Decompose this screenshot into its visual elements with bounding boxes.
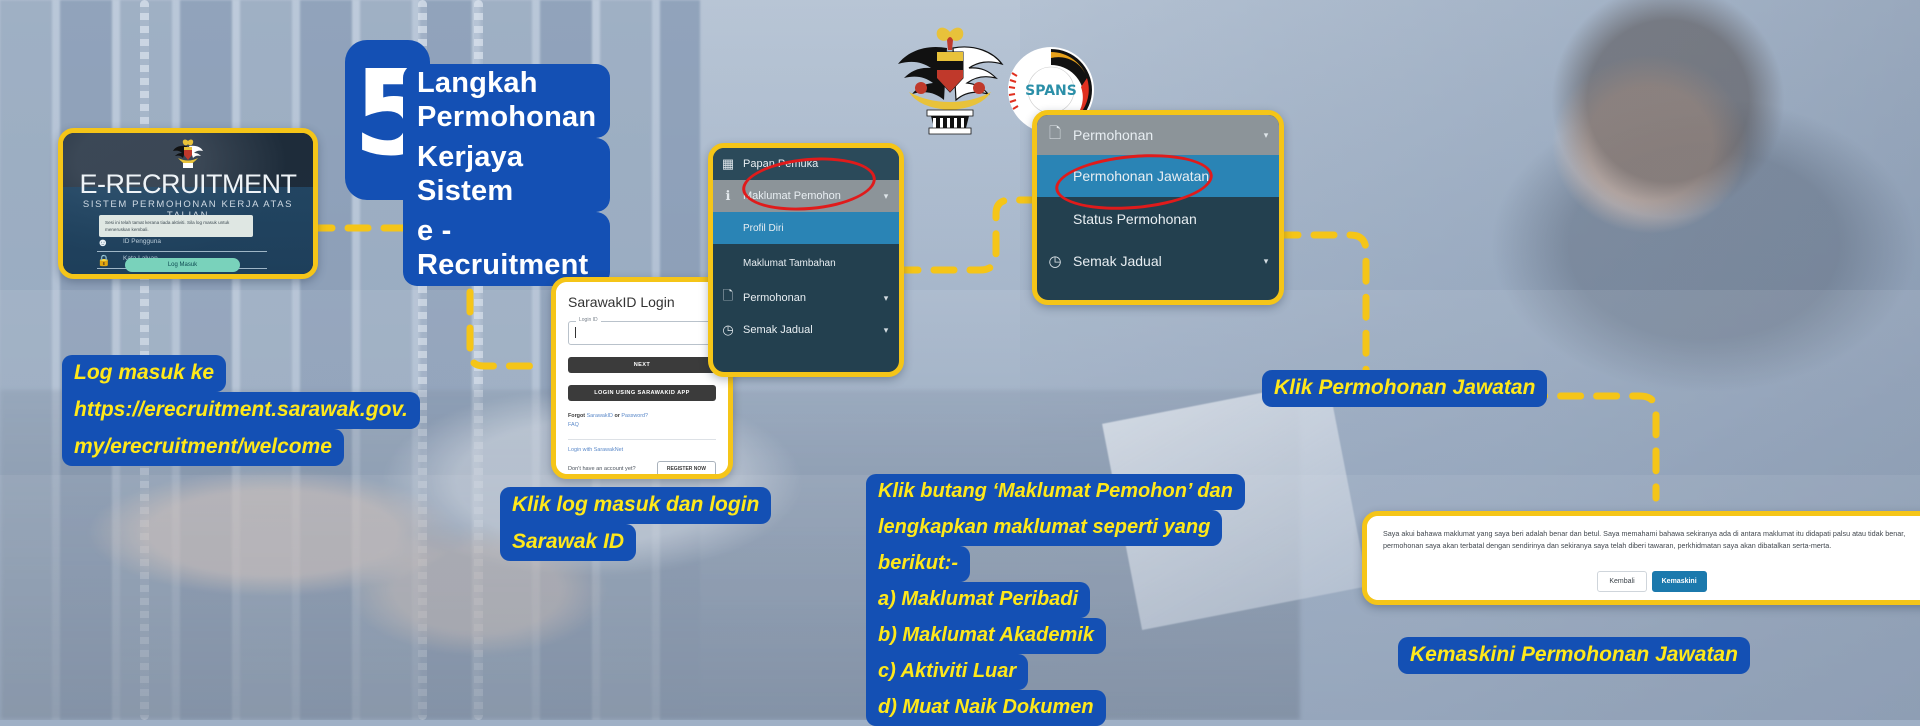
caption-line: my/erecruitment/welcome	[62, 429, 344, 466]
caption-line: c) Aktiviti Luar	[866, 654, 1028, 690]
menu-item-papan-pemuka[interactable]: ▦ Papan Pemuka	[713, 148, 899, 180]
help-links: Forgot SarawakID or Password? FAQ	[568, 412, 716, 430]
caption-line: Log masuk ke	[62, 355, 226, 392]
clock-icon: ◷	[713, 322, 743, 338]
caption-line: berikut:-	[866, 546, 970, 582]
login-button[interactable]: Log Masuk	[125, 258, 240, 272]
forgot-password-link[interactable]: Password?	[621, 413, 648, 419]
kemaskini-button[interactable]: Kemaskini	[1652, 571, 1707, 592]
menu-label: Maklumat Pemohon	[743, 190, 873, 202]
caption-line: Klik Permohonan Jawatan	[1262, 370, 1547, 407]
menu-label: Permohonan	[1073, 127, 1253, 143]
menu-item-semak-jadual[interactable]: ◷ Semak Jadual ▾	[713, 314, 899, 346]
permohonan-menu-screenshot: 🗋 Permohonan ▾ Permohonan Jawatan Status…	[1032, 110, 1284, 305]
text-caret	[575, 327, 576, 338]
menu-item-permohonan-jawatan[interactable]: Permohonan Jawatan	[1037, 155, 1279, 197]
caption-step-4: Klik Permohonan Jawatan	[1262, 370, 1547, 407]
erecruitment-heading: E-RECRUITMENT	[63, 169, 313, 200]
user-id-field[interactable]: ☻ ID Pengguna	[97, 235, 267, 252]
title-line-1: Langkah Permohonan	[403, 64, 610, 138]
erecruitment-login-screenshot: E-RECRUITMENT SISTEM PERMOHONAN KERJA AT…	[58, 128, 318, 279]
dashboard-icon: ▦	[713, 156, 743, 172]
no-account-label: Don't have an account yet?	[568, 466, 636, 472]
title-line-3: e - Recruitment	[403, 212, 610, 286]
lock-icon: 🔒	[97, 254, 111, 267]
declaration-text: Saya akui bahawa maklumat yang saya beri…	[1383, 528, 1920, 552]
menu-label: Maklumat Tambahan	[743, 258, 899, 269]
menu-item-permohonan[interactable]: 🗋 Permohonan ▾	[1037, 115, 1279, 155]
menu-label: Papan Pemuka	[743, 158, 873, 170]
caption-line: Klik butang ‘Maklumat Pemohon’ dan	[866, 474, 1245, 510]
divider	[568, 439, 716, 440]
chevron-down-icon: ▾	[1253, 130, 1279, 141]
next-button[interactable]: NEXT	[568, 357, 716, 373]
svg-text:SPANS: SPANS	[1025, 83, 1077, 99]
or-label: or	[614, 413, 619, 419]
menu-label: Status Permohonan	[1073, 211, 1279, 227]
forgot-sarawakid-link[interactable]: SarawakID	[587, 413, 613, 419]
caption-step-1: Log masuk ke https://erecruitment.sarawa…	[62, 355, 482, 466]
caption-step-3: Klik butang ‘Maklumat Pemohon’ dan lengk…	[866, 474, 1286, 726]
title-line-2: Kerjaya Sistem	[403, 138, 610, 212]
document-icon: 🗋	[1037, 123, 1073, 148]
menu-item-semak-jadual[interactable]: ◷ Semak Jadual ▾	[1037, 241, 1279, 281]
chevron-down-icon: ▾	[873, 191, 899, 202]
caption-line: b) Maklumat Akademik	[866, 618, 1106, 654]
sarawaknet-login-link[interactable]: Login with SarawakNet	[568, 447, 716, 453]
kembali-button[interactable]: Kembali	[1597, 571, 1646, 592]
caption-line: lengkapkan maklumat seperti yang	[866, 510, 1222, 546]
register-now-button[interactable]: REGISTER NOW	[657, 461, 716, 477]
menu-item-permohonan[interactable]: 🗋 Permohonan ▾	[713, 282, 899, 314]
caption-line: Sarawak ID	[500, 524, 636, 561]
declaration-dialog-screenshot: Saya akui bahawa maklumat yang saya beri…	[1362, 511, 1920, 605]
menu-item-profil-diri[interactable]: Profil Diri	[713, 212, 899, 244]
menu-item-maklumat-tambahan[interactable]: Maklumat Tambahan	[713, 244, 899, 282]
clock-icon: ◷	[1037, 252, 1073, 270]
sarawakid-title: SarawakID Login	[568, 294, 716, 310]
caption-step-2: Klik log masuk dan login Sarawak ID	[500, 487, 830, 561]
caption-line: Klik log masuk dan login	[500, 487, 771, 524]
caption-line: d) Muat Naik Dokumen	[866, 690, 1106, 726]
chevron-down-icon: ▾	[873, 293, 899, 304]
menu-item-maklumat-pemohon[interactable]: ℹ Maklumat Pemohon ▾	[713, 180, 899, 212]
info-icon: ℹ	[713, 188, 743, 204]
chevron-down-icon: ▾	[873, 325, 899, 336]
chevron-down-icon: ▾	[1253, 256, 1279, 267]
caption-line: a) Maklumat Peribadi	[866, 582, 1090, 618]
user-icon: ☻	[97, 237, 109, 249]
caption-line: https://erecruitment.sarawak.gov.	[62, 392, 420, 429]
title-lines: Langkah Permohonan Kerjaya Sistem e - Re…	[403, 64, 610, 286]
document-icon: 🗋	[713, 287, 743, 309]
menu-label: Semak Jadual	[743, 324, 873, 336]
faq-link[interactable]: FAQ	[568, 422, 579, 428]
sarawak-coat-of-arms	[895, 18, 1005, 136]
caption-step-5: Kemaskini Permohonan Jawatan	[1398, 637, 1750, 674]
menu-item-status-permohonan[interactable]: Status Permohonan	[1037, 197, 1279, 241]
sarawakid-login-screenshot: SarawakID Login Login ID NEXT LOGIN USIN…	[551, 277, 733, 479]
caption-line: Kemaskini Permohonan Jawatan	[1398, 637, 1750, 674]
sarawak-crest-icon	[173, 137, 203, 169]
forgot-label: Forgot	[568, 413, 585, 419]
menu-label: Profil Diri	[743, 223, 899, 234]
session-expired-message: Sesi ini telah tamat kerana tiada aktivi…	[99, 215, 253, 237]
menu-label: Permohonan Jawatan	[1073, 168, 1279, 184]
user-id-label: ID Pengguna	[123, 238, 161, 245]
login-id-label: Login ID	[576, 317, 601, 323]
applicant-info-menu-screenshot: ▦ Papan Pemuka ℹ Maklumat Pemohon ▾ Prof…	[708, 143, 904, 377]
login-id-input[interactable]: Login ID	[568, 321, 716, 345]
menu-label: Semak Jadual	[1073, 253, 1253, 269]
menu-label: Permohonan	[743, 292, 873, 304]
login-using-app-button[interactable]: LOGIN USING SARAWAKID APP	[568, 385, 716, 401]
